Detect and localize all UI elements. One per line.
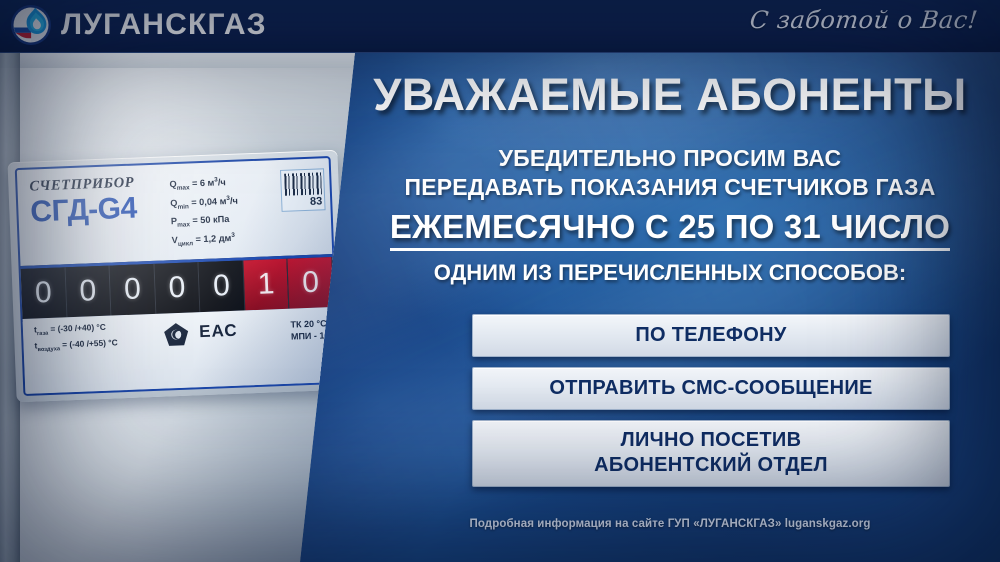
vignette-overlay bbox=[0, 0, 1000, 562]
poster-canvas: СЧЕТПРИБОР СГД-G4 Qmax = 6 м3/ч Qmin = 0… bbox=[0, 0, 1000, 562]
